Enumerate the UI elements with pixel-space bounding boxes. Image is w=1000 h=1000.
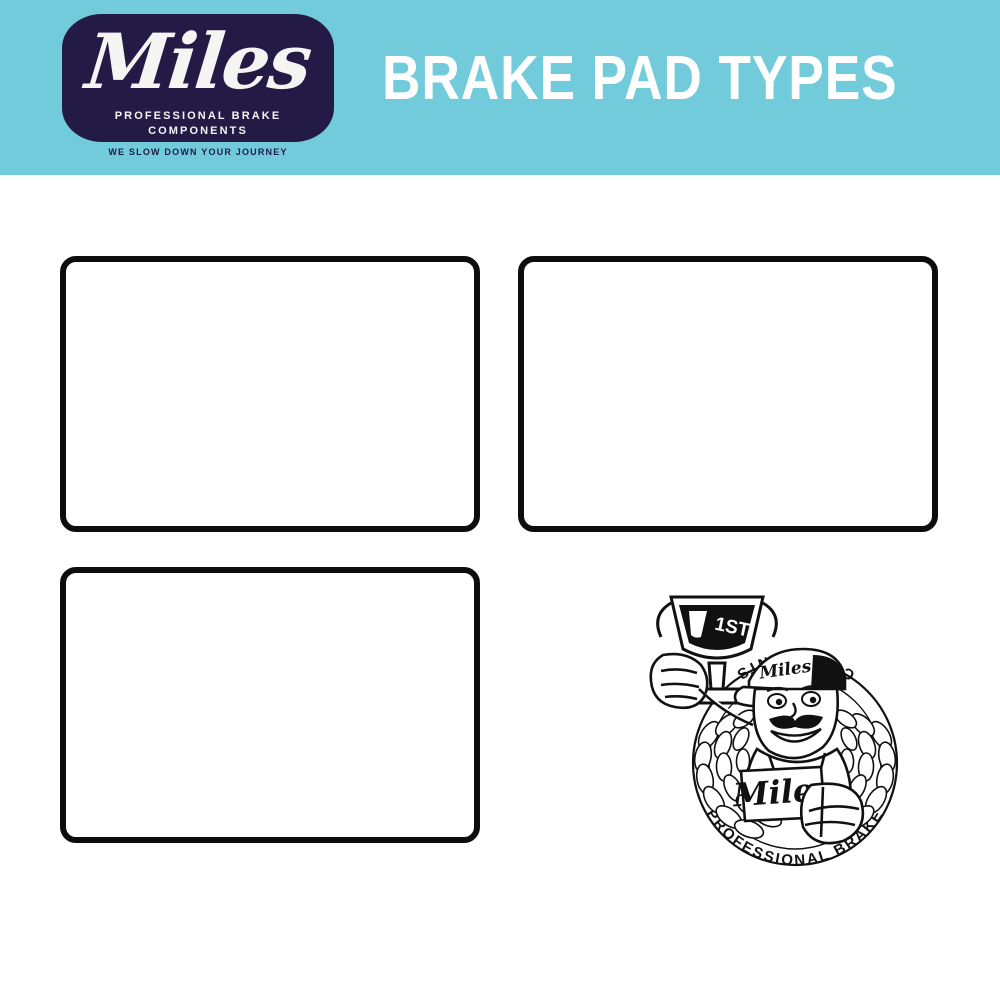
page-title: BRAKE PAD TYPES xyxy=(382,48,898,110)
brand-logo: Miles PROFESSIONAL BRAKE COMPONENTS WE S… xyxy=(62,14,334,162)
logo-tagline: WE SLOW DOWN YOUR JOURNEY xyxy=(62,147,334,157)
chart-panel-metal-contents xyxy=(60,256,480,532)
chart-panel-noise xyxy=(60,567,480,843)
logo-subtitle-line1: PROFESSIONAL BRAKE xyxy=(62,110,334,122)
logo-badge-shape: Miles PROFESSIONAL BRAKE COMPONENTS xyxy=(62,14,334,142)
chart-panel-heat-resistance xyxy=(518,256,938,532)
brake-pad-object xyxy=(801,784,863,843)
logo-subtitle-line2: COMPONENTS xyxy=(62,125,334,137)
mascot-fist xyxy=(651,654,708,708)
logo-brand-script: Miles xyxy=(62,14,334,114)
header-banner: Miles PROFESSIONAL BRAKE COMPONENTS WE S… xyxy=(0,0,1000,175)
mascot-illustration: PROFESSIONAL BRAKE COMPONENTS xyxy=(645,585,935,885)
